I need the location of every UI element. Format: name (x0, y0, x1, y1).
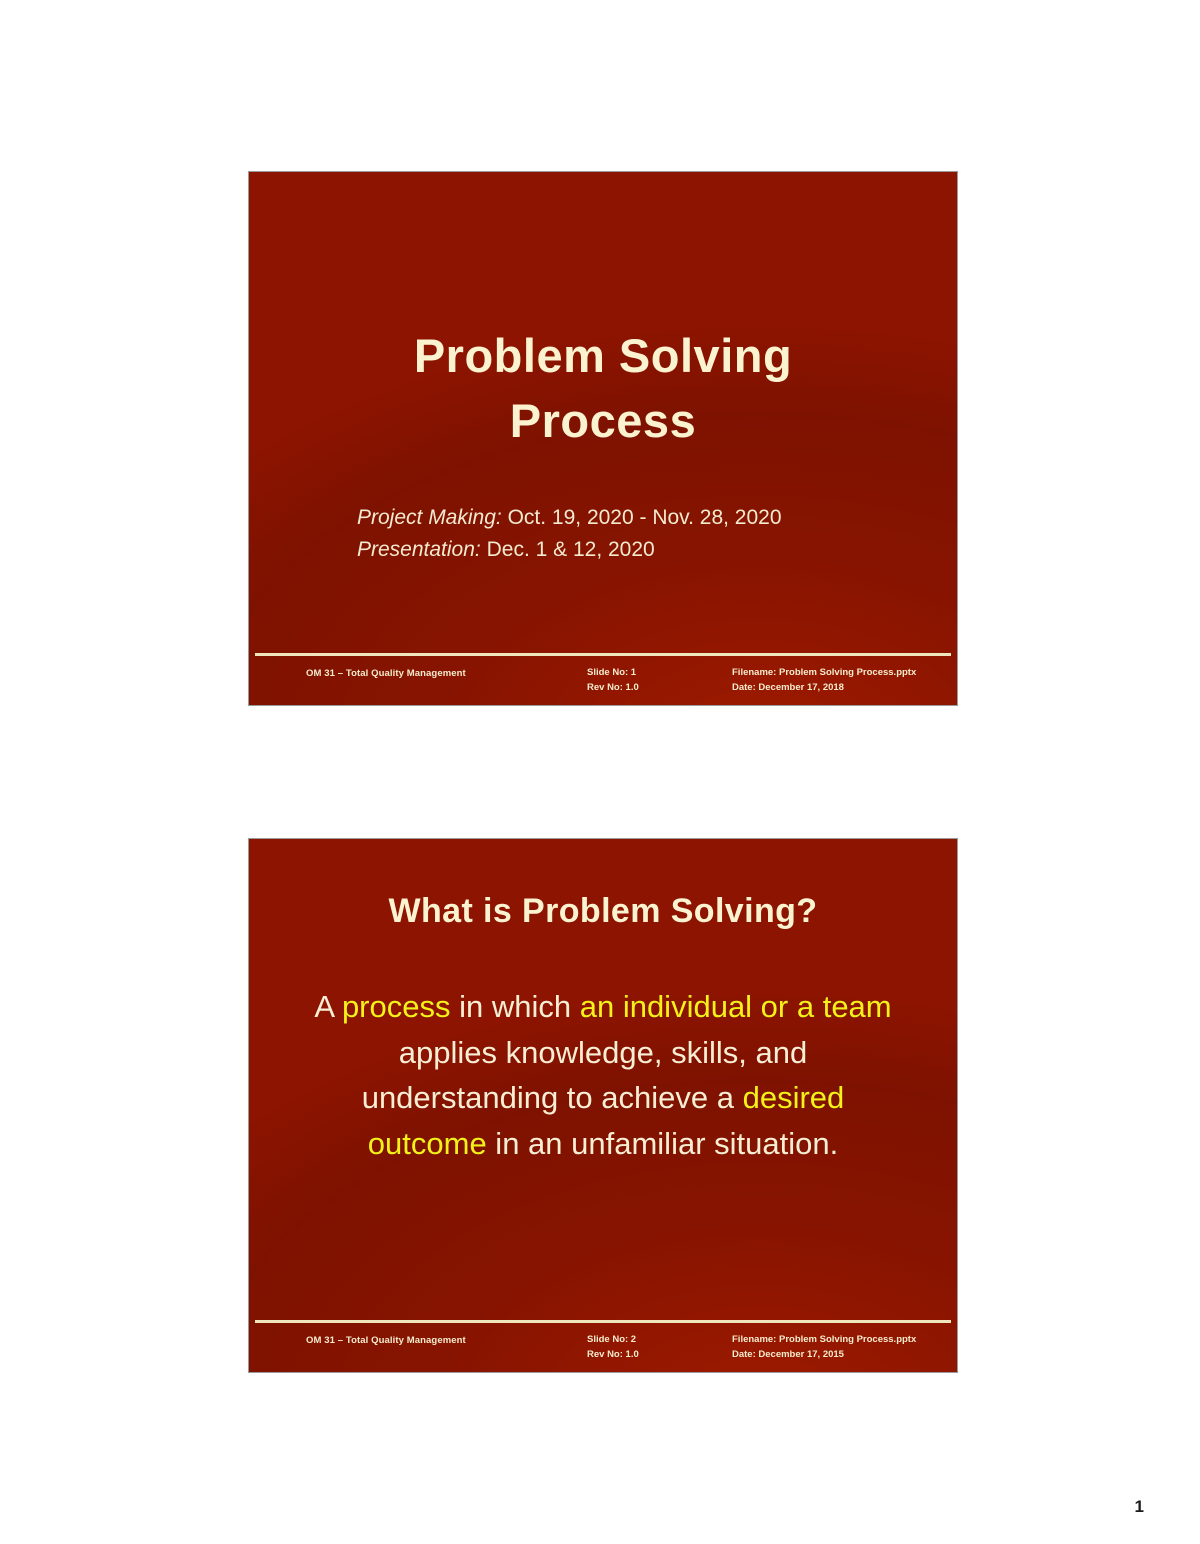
footer-date: Date: December 17, 2018 (732, 681, 916, 696)
subtitle-project-making-value: Oct. 19, 2020 - Nov. 28, 2020 (508, 506, 782, 529)
slide-1-title-line-1: Problem Solving (249, 324, 957, 389)
footer-slide-info: Slide No: 2 Rev No: 1.0 (587, 1333, 639, 1362)
subtitle-project-making-label: Project Making: (357, 506, 502, 529)
slide-2[interactable]: What is Problem Solving? A process in wh… (248, 838, 958, 1373)
slide-1-title-line-2: Process (249, 389, 957, 454)
page-number: 1 (1135, 1497, 1144, 1517)
body-highlight-run: process (342, 989, 451, 1024)
footer-content: OM 31 – Total Quality Management Slide N… (249, 656, 957, 705)
slide-1-title: Problem Solving Process (249, 324, 957, 454)
body-text-run: applies knowledge, skills, and understan… (362, 1035, 808, 1116)
body-text-run: in an unfamiliar situation. (487, 1126, 839, 1161)
slide-1-subtitle: Project Making: Oct. 19, 2020 - Nov. 28,… (357, 502, 782, 566)
slide-1-footer: OM 31 – Total Quality Management Slide N… (249, 653, 957, 705)
subtitle-project-making: Project Making: Oct. 19, 2020 - Nov. 28,… (357, 502, 782, 534)
slide-2-body: A process in which an individual or a te… (305, 984, 901, 1166)
footer-filename: Filename: Problem Solving Process.pptx (732, 1333, 916, 1348)
subtitle-presentation-label: Presentation: (357, 538, 481, 561)
footer-file-info: Filename: Problem Solving Process.pptx D… (732, 1333, 916, 1362)
slide-2-footer: OM 31 – Total Quality Management Slide N… (249, 1320, 957, 1372)
slide-1[interactable]: Problem Solving Process Project Making: … (248, 171, 958, 706)
slide-2-content: What is Problem Solving? A process in wh… (249, 839, 957, 1372)
footer-slide-no: Slide No: 2 (587, 1333, 639, 1348)
footer-rev-no: Rev No: 1.0 (587, 1348, 639, 1363)
footer-course-label: OM 31 – Total Quality Management (306, 1334, 466, 1349)
footer-content: OM 31 – Total Quality Management Slide N… (249, 1323, 957, 1372)
body-text-run: in which (450, 989, 579, 1024)
body-text-run: A (314, 989, 342, 1024)
footer-filename: Filename: Problem Solving Process.pptx (732, 666, 916, 681)
slide-2-title: What is Problem Solving? (249, 892, 957, 931)
footer-slide-no: Slide No: 1 (587, 666, 639, 681)
handout-page: Problem Solving Process Project Making: … (0, 0, 1200, 1544)
body-highlight-run: an individual or a team (580, 989, 892, 1024)
footer-date: Date: December 17, 2015 (732, 1348, 916, 1363)
subtitle-presentation: Presentation: Dec. 1 & 12, 2020 (357, 534, 782, 566)
footer-course-label: OM 31 – Total Quality Management (306, 667, 466, 682)
footer-slide-info: Slide No: 1 Rev No: 1.0 (587, 666, 639, 695)
slide-1-content: Problem Solving Process Project Making: … (249, 172, 957, 705)
subtitle-presentation-value: Dec. 1 & 12, 2020 (487, 538, 655, 561)
footer-rev-no: Rev No: 1.0 (587, 681, 639, 696)
footer-file-info: Filename: Problem Solving Process.pptx D… (732, 666, 916, 695)
